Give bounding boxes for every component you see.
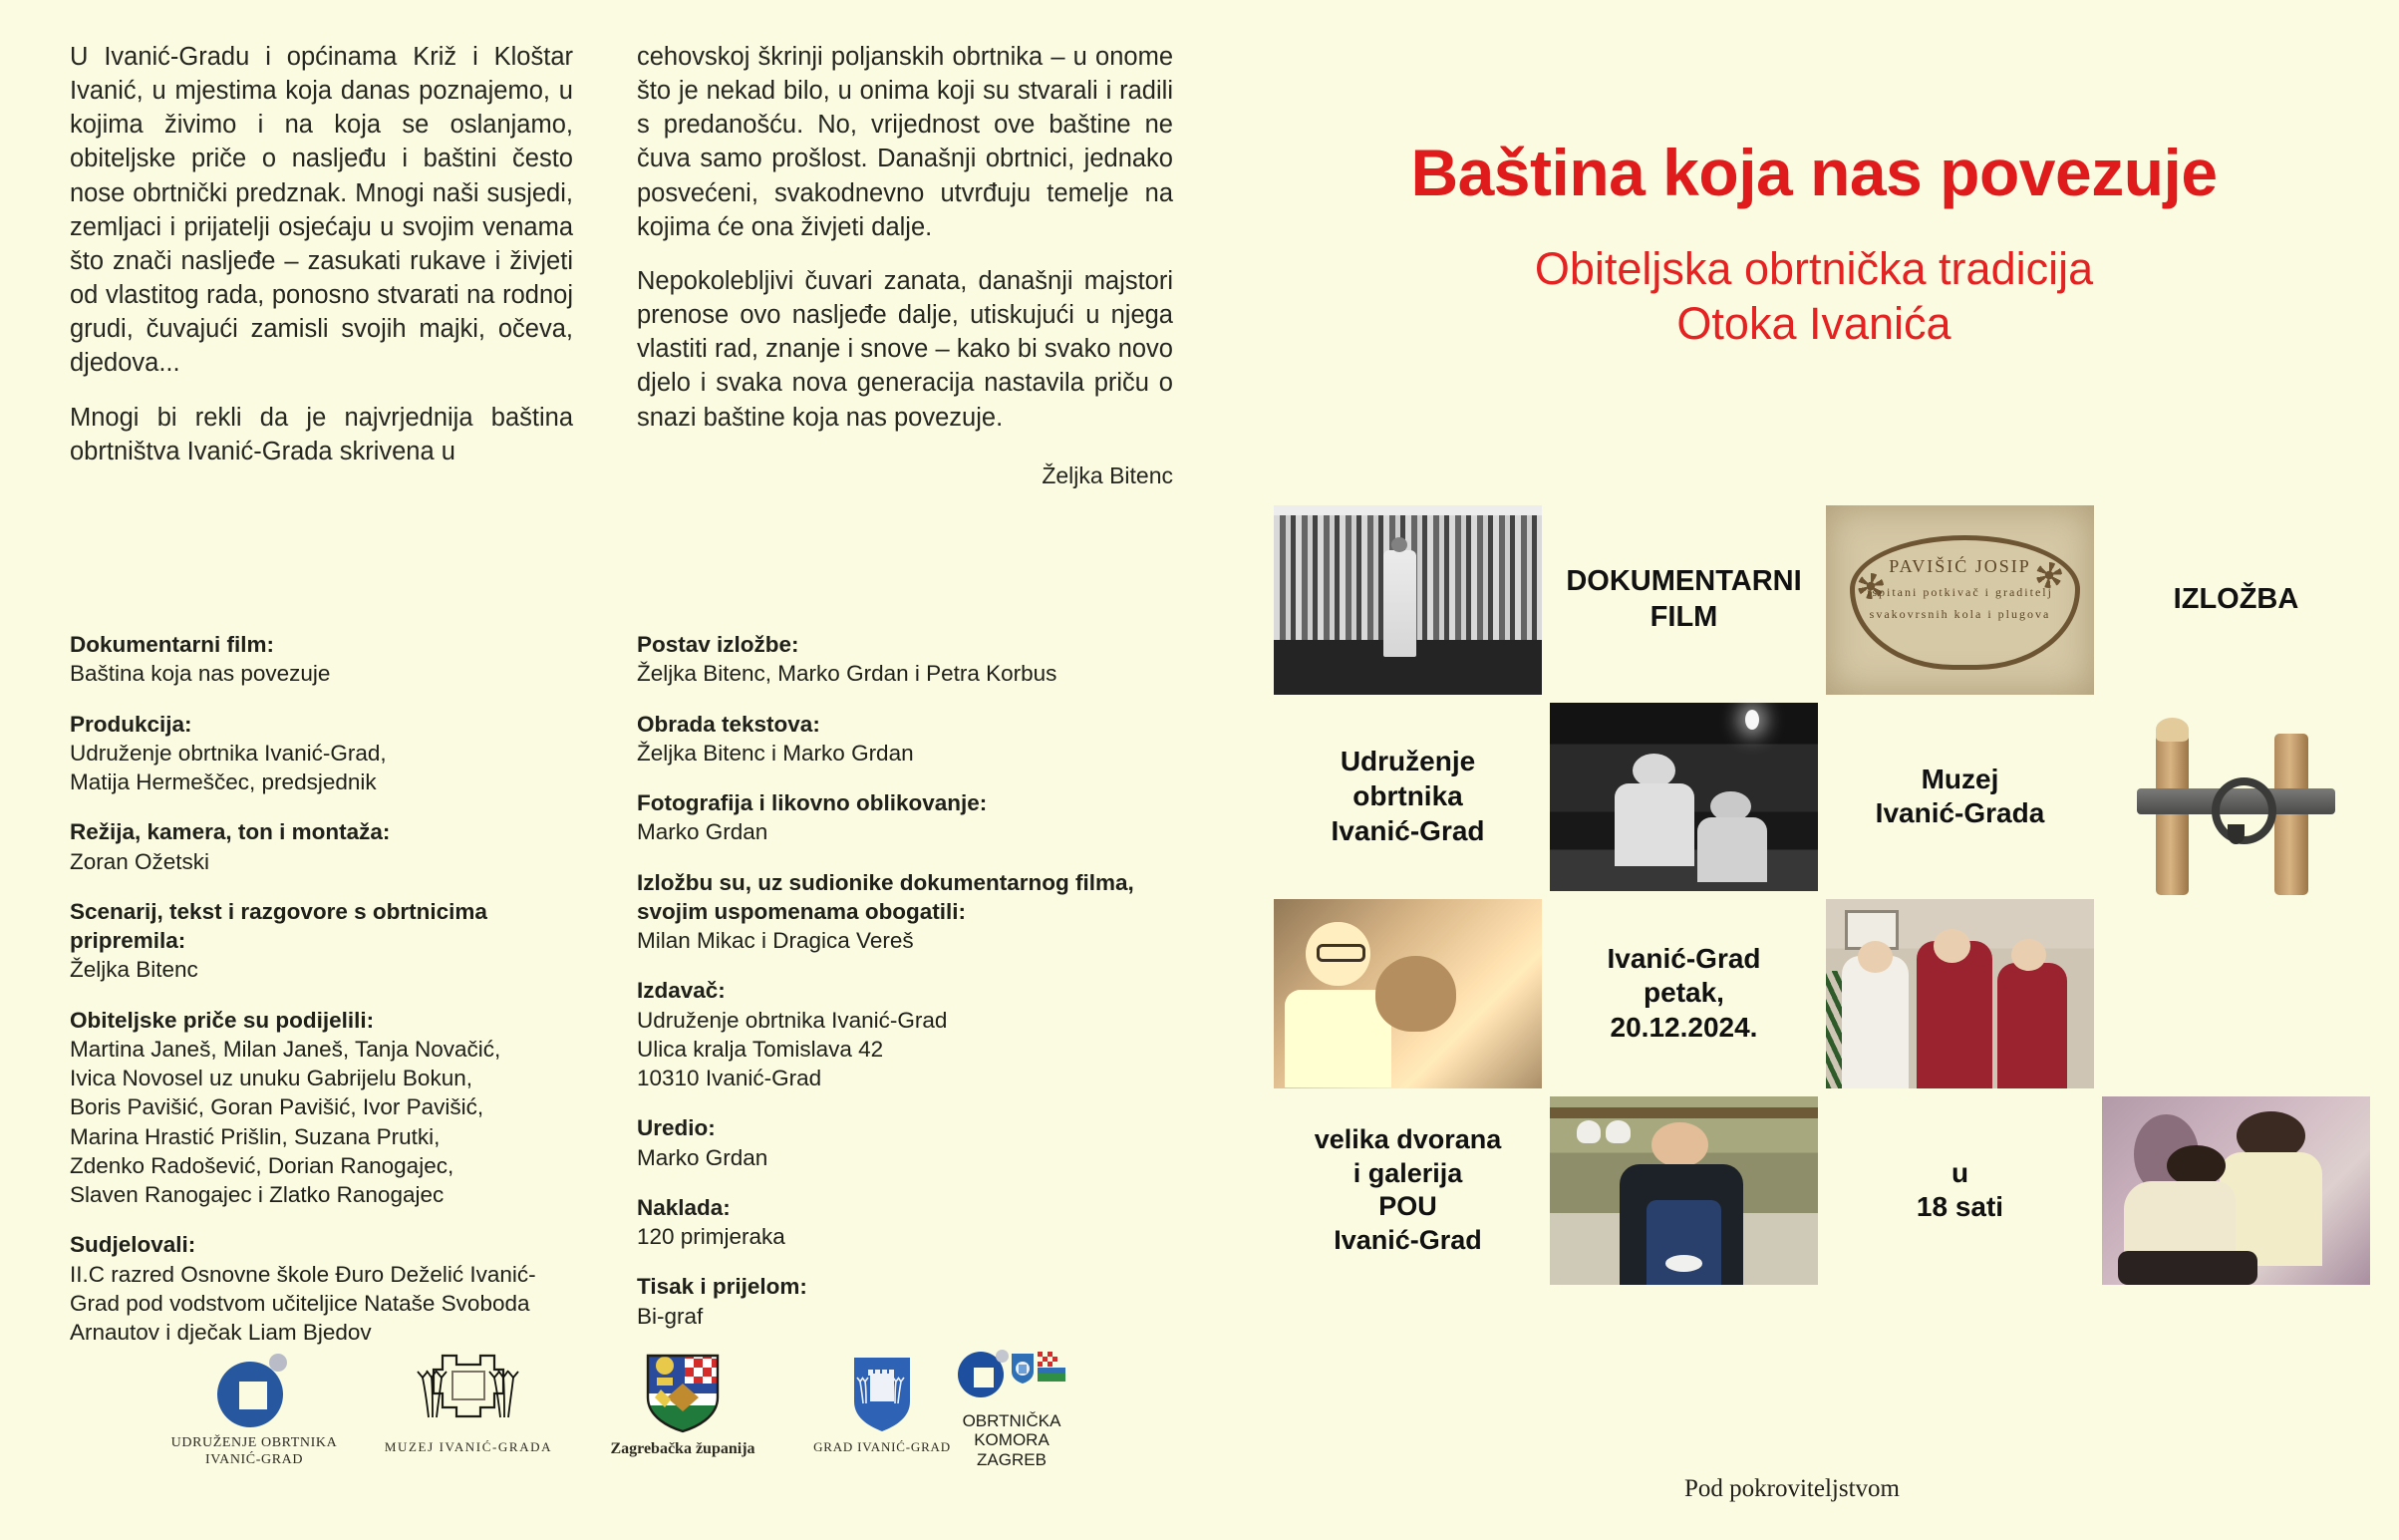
credits-column-right: Postav izložbe: Željka Bitenc, Marko Grd… — [637, 630, 1165, 1352]
credit-block: Obrada tekstova: Željka Bitenc i Marko G… — [637, 710, 1165, 769]
credit-block: Tisak i prijelom: Bi-graf — [637, 1272, 1165, 1331]
logo-obrtnicka-komora-zagreb: OBRTNIČKA KOMORA ZAGREB — [922, 1350, 1101, 1469]
stamp-line-3: svakovrsnih kola i plugova — [1826, 607, 2094, 622]
grad-ivanic-grad-coat-of-arms-icon — [851, 1354, 913, 1433]
logo-caption: Zagrebačka županija — [583, 1439, 782, 1458]
credit-heading: Režija, kamera, ton i montaža: — [70, 817, 588, 846]
credit-heading: Obrada tekstova: — [637, 710, 1165, 739]
cover-title: Baština koja nas povezuje — [1251, 140, 2377, 206]
credits-column-left: Dokumentarni film: Baština koja nas pove… — [70, 630, 588, 1368]
photo-shoemaker — [1546, 1092, 1822, 1290]
cover-subtitle: Obiteljska obrtnička tradicija Otoka Iva… — [1251, 242, 2377, 352]
label-izlozba: IZLOŽBA — [2098, 501, 2374, 699]
credit-heading: Postav izložbe: — [637, 630, 1165, 659]
credit-block: Izdavač: Udruženje obrtnika Ivanić-Grad … — [637, 976, 1165, 1092]
credit-block: Scenarij, tekst i razgovore s obrtnicima… — [70, 897, 588, 985]
essay-column-right: cehovskoj škrinji poljanskih obrtnika – … — [637, 40, 1173, 491]
grid-empty-cell — [2098, 895, 2374, 1092]
credit-block: Sudjelovali: II.C razred Osnovne škole Đ… — [70, 1230, 588, 1347]
logo-zagrebacka-zupanija: Zagrebačka županija — [583, 1350, 782, 1458]
credit-block: Naklada: 120 primjeraka — [637, 1193, 1165, 1252]
cover-photo-grid: DOKUMENTARNI FILM PAVIŠIĆ JOSIP ispitani… — [1270, 501, 2374, 1289]
credit-block: Režija, kamera, ton i montaža: Zoran Ože… — [70, 817, 588, 876]
credit-block: Fotografija i likovno oblikovanje: Marko… — [637, 788, 1165, 847]
credit-heading: Scenarij, tekst i razgovore s obrtnicima… — [70, 897, 538, 956]
stamp-line-1: PAVIŠIĆ JOSIP — [1826, 556, 2094, 577]
udruzenje-obrtnika-icon — [217, 1354, 291, 1427]
photo-sepia-barber — [1270, 895, 1546, 1092]
logo-caption: MUZEJ IVANIĆ-GRADA — [369, 1439, 568, 1455]
label-muzej-ivanic-grada: Muzej Ivanić-Grada — [1822, 699, 2098, 896]
credit-heading: Izdavač: — [637, 976, 1165, 1005]
photo-horse-yoke — [2098, 699, 2374, 896]
photo-pavisic-stamp: PAVIŠIĆ JOSIP ispitani potkivač i gradit… — [1822, 501, 2098, 699]
logo-caption: UDRUŽENJE OBRTNIKA IVANIĆ-GRAD — [150, 1435, 359, 1469]
photo-three-butchers — [1822, 895, 2098, 1092]
credit-value: Željka Bitenc — [70, 955, 588, 984]
essay-signature: Željka Bitenc — [637, 461, 1173, 491]
credit-heading: Naklada: — [637, 1193, 1165, 1222]
credit-heading: Izložbu su, uz sudionike dokumentarnog f… — [637, 868, 1135, 927]
label-dokumentarni-film: DOKUMENTARNI FILM — [1546, 501, 1822, 699]
credit-value: Baština koja nas povezuje — [70, 659, 588, 688]
zagrebacka-zupanija-coat-of-arms-icon — [643, 1350, 723, 1433]
essay-column-left: U Ivanić-Gradu i općinama Križ i Kloštar… — [70, 40, 573, 488]
credit-value: Marko Grdan — [637, 817, 1165, 846]
credit-heading: Obiteljske priče su podijelili: — [70, 1006, 588, 1035]
credit-heading: Sudjelovali: — [70, 1230, 588, 1259]
credit-value: Željka Bitenc i Marko Grdan — [637, 739, 1165, 768]
label-udruzenje-obrtnika: Udruženje obrtnika Ivanić-Grad — [1270, 699, 1546, 896]
label-venue: velika dvorana i galerija POU Ivanić-Gra… — [1270, 1092, 1546, 1290]
credit-value: Zoran Ožetski — [70, 847, 588, 876]
credit-value: Udruženje obrtnika Ivanić-Grad Ulica kra… — [637, 1006, 1165, 1093]
credit-block: Obiteljske priče su podijelili: Martina … — [70, 1006, 588, 1210]
photo-vintage-salon — [2098, 1092, 2374, 1290]
credit-heading: Produkcija: — [70, 710, 588, 739]
credit-heading: Dokumentarni film: — [70, 630, 588, 659]
stamp-line-2: ispitani potkivač i graditelj — [1826, 585, 2094, 600]
credit-block: Dokumentarni film: Baština koja nas pove… — [70, 630, 588, 689]
credit-value: II.C razred Osnovne škole Đuro Deželić I… — [70, 1260, 558, 1348]
cover-subtitle-line-2: Otoka Ivanića — [1251, 297, 2377, 352]
logo-caption: OBRTNIČKA KOMORA ZAGREB — [922, 1411, 1101, 1469]
credit-value: Martina Janeš, Milan Janeš, Tanja Novači… — [70, 1035, 588, 1210]
credit-value: Željka Bitenc, Marko Grdan i Petra Korbu… — [637, 659, 1165, 688]
patronage-text: Pod pokroviteljstvom — [1684, 1475, 1900, 1503]
credit-value: Marko Grdan — [637, 1143, 1165, 1172]
credit-block: Izložbu su, uz sudionike dokumentarnog f… — [637, 868, 1165, 956]
credit-value: Bi-graf — [637, 1302, 1165, 1331]
cover-subtitle-line-1: Obiteljska obrtnička tradicija — [1251, 242, 2377, 297]
essay-paragraph: U Ivanić-Gradu i općinama Križ i Kloštar… — [70, 40, 573, 381]
credit-heading: Uredio: — [637, 1113, 1165, 1142]
essay-paragraph: Nepokolebljivi čuvari zanata, današnji m… — [637, 264, 1173, 435]
label-event-date: Ivanić-Grad petak, 20.12.2024. — [1546, 895, 1822, 1092]
credit-block: Postav izložbe: Željka Bitenc, Marko Grd… — [637, 630, 1165, 689]
essay-paragraph: cehovskoj škrinji poljanskih obrtnika – … — [637, 40, 1173, 244]
credit-value: 120 primjeraka — [637, 1222, 1165, 1251]
credit-value: Udruženje obrtnika Ivanić-Grad, Matija H… — [70, 739, 588, 797]
brochure-page: U Ivanić-Gradu i općinama Križ i Kloštar… — [0, 0, 2399, 1540]
obrtnicka-komora-icon — [958, 1350, 1065, 1405]
credit-value: Milan Mikac i Dragica Vereš — [637, 926, 1165, 955]
essay-paragraph: Mnogi bi rekli da je najvrjednija baštin… — [70, 401, 573, 468]
credit-block: Uredio: Marko Grdan — [637, 1113, 1165, 1172]
credit-block: Produkcija: Udruženje obrtnika Ivanić-Gr… — [70, 710, 588, 797]
photo-old-workshop — [1546, 699, 1822, 896]
label-event-time: u 18 sati — [1822, 1092, 2098, 1290]
muzej-frame-icon — [409, 1348, 528, 1435]
logo-muzej-ivanic-grada: MUZEJ IVANIĆ-GRADA — [369, 1348, 568, 1455]
logo-udruzenje-obrtnika: UDRUŽENJE OBRTNIKA IVANIĆ-GRAD — [150, 1354, 359, 1469]
credit-heading: Fotografija i likovno oblikovanje: — [637, 788, 1165, 817]
credit-heading: Tisak i prijelom: — [637, 1272, 1165, 1301]
photo-butcher-shop — [1270, 501, 1546, 699]
footer-logos: UDRUŽENJE OBRTNIKA IVANIĆ-GRAD — [0, 1348, 1196, 1527]
